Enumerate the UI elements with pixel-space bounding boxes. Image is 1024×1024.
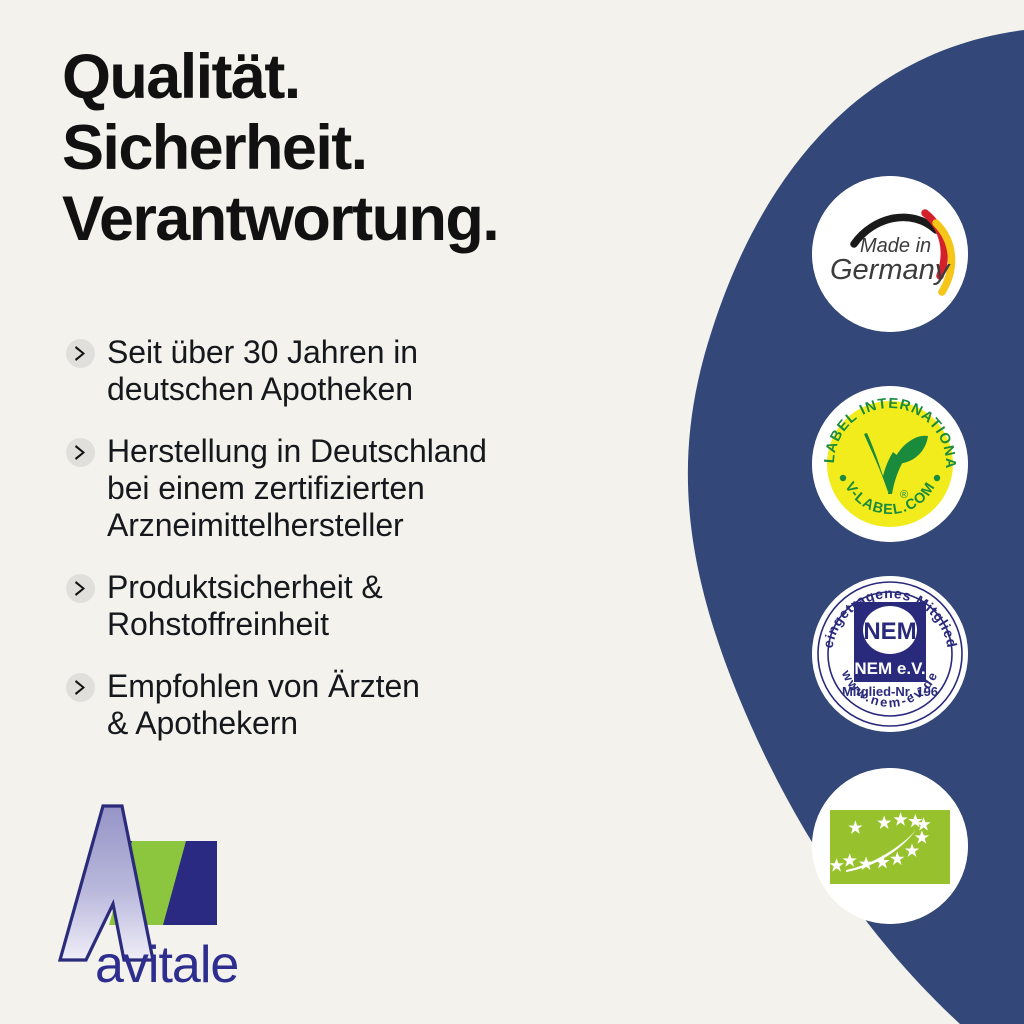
list-item-text: Empfohlen von Ärzten& Apothekern bbox=[107, 668, 420, 742]
headline-line-2: Sicherheit. bbox=[62, 113, 682, 184]
poster-canvas: Qualität. Sicherheit. Verantwortung. Sei… bbox=[0, 0, 1024, 1024]
list-item-line: Rohstoffreinheit bbox=[107, 606, 329, 642]
feature-list: Seit über 30 Jahren indeutschen Apotheke… bbox=[66, 334, 666, 742]
nem-mark: NEM bbox=[863, 618, 916, 645]
list-item-text: Seit über 30 Jahren indeutschen Apotheke… bbox=[107, 334, 418, 408]
list-item: Empfohlen von Ärzten& Apothekern bbox=[66, 668, 666, 742]
chevron-right-icon bbox=[66, 339, 95, 368]
list-item: Seit über 30 Jahren indeutschen Apotheke… bbox=[66, 334, 666, 408]
made-in-germany-badge: Made in Germany bbox=[812, 176, 968, 332]
nem-member-number: Mitglied-Nr. 196 bbox=[842, 684, 938, 699]
chevron-right-icon bbox=[66, 673, 95, 702]
headline-line-1: Qualität. bbox=[62, 42, 682, 113]
chevron-right-icon bbox=[66, 438, 95, 467]
list-item-text: Herstellung in Deutschlandbei einem zert… bbox=[107, 433, 487, 544]
list-item-line: Empfohlen von Ärzten bbox=[107, 668, 420, 704]
list-item-line: & Apothekern bbox=[107, 705, 298, 741]
nem-subtitle: NEM e.V. bbox=[854, 659, 925, 678]
list-item-line: Herstellung in Deutschland bbox=[107, 433, 487, 469]
page-headline: Qualität. Sicherheit. Verantwortung. bbox=[62, 42, 682, 255]
list-item-line: deutschen Apotheken bbox=[107, 371, 413, 407]
list-item-line: Arzneimittelhersteller bbox=[107, 507, 404, 543]
eu-organic-leaf-badge bbox=[812, 768, 968, 924]
list-item-line: Produktsicherheit & bbox=[107, 569, 383, 605]
list-item: Herstellung in Deutschlandbei einem zert… bbox=[66, 433, 666, 544]
list-item-text: Produktsicherheit &Rohstoffreinheit bbox=[107, 569, 383, 643]
nem-member-badge: eingetragenes Mitglied www.nem-ev.de NEM… bbox=[812, 576, 968, 732]
germany-text: Germany bbox=[830, 254, 951, 286]
list-item: Produktsicherheit &Rohstoffreinheit bbox=[66, 569, 666, 643]
list-item-line: bei einem zertifizierten bbox=[107, 470, 425, 506]
list-item-line: Seit über 30 Jahren in bbox=[107, 334, 418, 370]
logo-wordmark: avitale bbox=[95, 936, 238, 994]
registered-mark: ® bbox=[900, 489, 908, 501]
avitale-logo: avitale bbox=[58, 800, 328, 1005]
v-label-badge: V-LABEL INTERNATIONAL V-LABEL.COM ® bbox=[812, 386, 968, 542]
headline-line-3: Verantwortung. bbox=[62, 184, 682, 255]
chevron-right-icon bbox=[66, 574, 95, 603]
